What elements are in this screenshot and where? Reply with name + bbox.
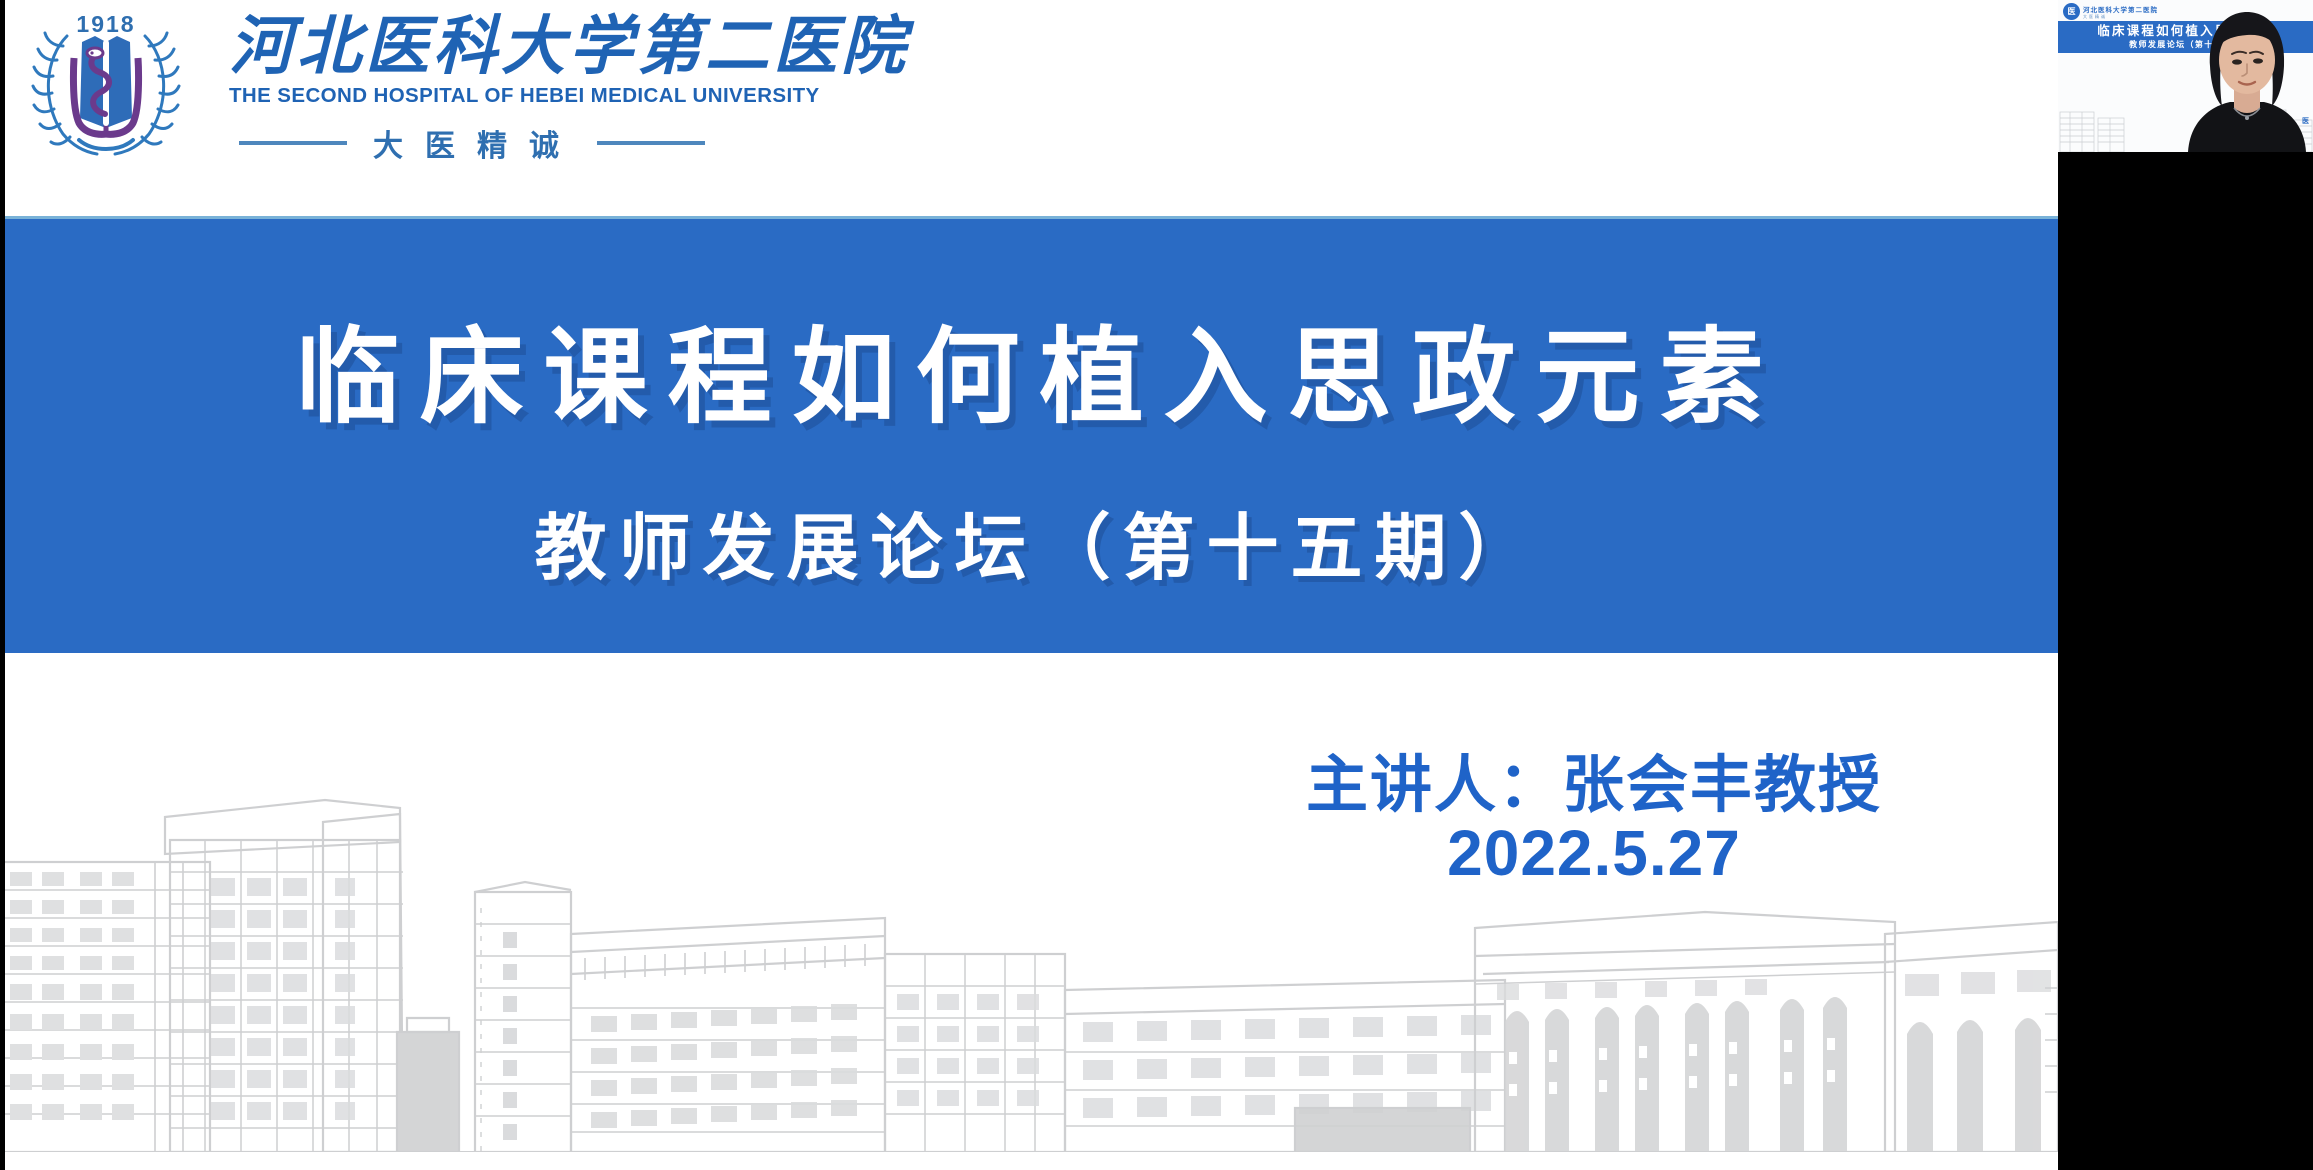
right-black-bar (2058, 152, 2313, 1170)
motto-rule-right (597, 141, 705, 145)
presentation-date: 2022.5.27 (1306, 820, 1882, 887)
slide-lower-area: 主讲人：张会丰教授 2022.5.27 (5, 653, 2058, 1170)
institution-name-en: THE SECOND HOSPITAL OF HEBEI MEDICAL UNI… (229, 84, 909, 108)
emblem-year-text: 1918 (76, 11, 135, 37)
shared-slide: 1918 (5, 0, 2058, 1170)
motto-text: 大医精诚 (373, 121, 581, 165)
logo-wordmark: 河北医科大学第二医院 THE SECOND HOSPITAL OF HEBEI … (229, 6, 909, 165)
pip-emblem-icon: 医 (2063, 3, 2080, 20)
presenter-portrait (2182, 4, 2312, 152)
motto-rule-left (239, 141, 347, 145)
page-title: 临床课程如何植入思政元素 (295, 276, 1783, 443)
band-top-highlight (5, 216, 2058, 219)
pip-logo-words: 河北医科大学第二医院 大医精诚 (2083, 4, 2158, 20)
pip-institution-name: 河北医科大学第二医院 (2083, 4, 2158, 14)
title-band: 临床课程如何植入思政元素 教师发展论坛（第十五期） (5, 216, 2058, 653)
hospital-logo: 1918 (27, 6, 909, 165)
speaker-name: 主讲人：张会丰教授 (1306, 753, 1882, 818)
presenter-video-pip[interactable]: 医 河北医科大学第二医院 大医精诚 临床课程如何植入思政元素 教师发展论坛（第十… (2058, 0, 2313, 152)
pip-institution-motto: 大医精诚 (2083, 14, 2158, 20)
institution-name-cn: 河北医科大学第二医院 (229, 14, 909, 79)
pip-hospital-logo: 医 河北医科大学第二医院 大医精诚 (2063, 3, 2158, 20)
slide-header: 1918 (5, 0, 2058, 216)
hospital-caduceus-emblem-icon: 1918 (27, 6, 185, 156)
screen-root: 1918 (0, 0, 2313, 1170)
pip-emblem-glyph: 医 (2068, 8, 2076, 16)
page-subtitle: 教师发展论坛（第十五期） (534, 489, 1542, 594)
speaker-credit: 主讲人：张会丰教授 2022.5.27 (1306, 753, 1882, 887)
motto-row: 大医精诚 (229, 121, 909, 165)
